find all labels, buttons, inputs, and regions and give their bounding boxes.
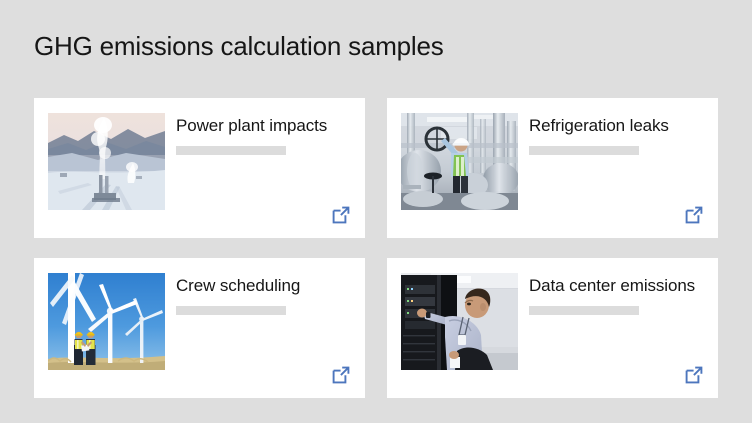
sample-card-crew-scheduling[interactable]: Crew scheduling [34, 258, 365, 398]
card-placeholder-bar [176, 306, 286, 315]
external-link-icon[interactable] [331, 205, 351, 225]
card-body: Data center emissions [529, 275, 704, 315]
wind-turbine-crew-photo [48, 273, 165, 370]
sample-card-power-plant-impacts[interactable]: Power plant impacts [34, 98, 365, 238]
external-link-icon[interactable] [684, 365, 704, 385]
card-placeholder-bar [529, 306, 639, 315]
card-title: Data center emissions [529, 275, 704, 297]
sample-card-refrigeration-leaks[interactable]: Refrigeration leaks [387, 98, 718, 238]
card-placeholder-bar [176, 146, 286, 155]
power-plant-snow-photo [48, 113, 165, 210]
sample-card-grid: Power plant impacts [34, 98, 718, 398]
card-title: Refrigeration leaks [529, 115, 704, 137]
sample-card-data-center-emissions[interactable]: Data center emissions [387, 258, 718, 398]
card-body: Crew scheduling [176, 275, 351, 315]
card-title: Power plant impacts [176, 115, 351, 137]
refrigeration-plant-worker-photo [401, 113, 518, 210]
card-title: Crew scheduling [176, 275, 351, 297]
page-title: GHG emissions calculation samples [34, 30, 444, 62]
data-center-technician-photo [401, 273, 518, 370]
card-placeholder-bar [529, 146, 639, 155]
external-link-icon[interactable] [684, 205, 704, 225]
card-body: Power plant impacts [176, 115, 351, 155]
card-body: Refrigeration leaks [529, 115, 704, 155]
external-link-icon[interactable] [331, 365, 351, 385]
